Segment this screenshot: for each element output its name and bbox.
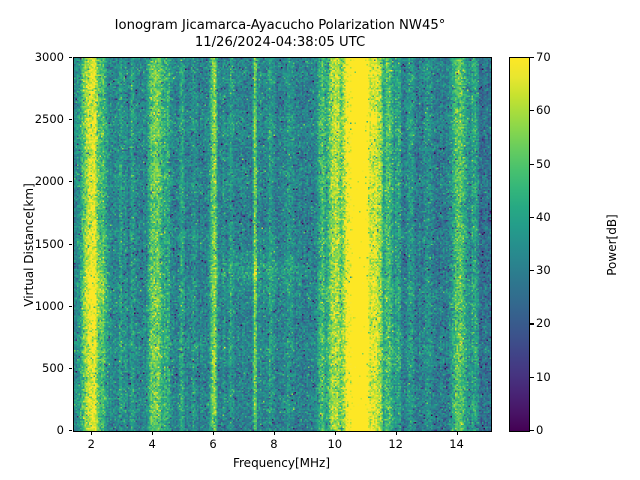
y-tick-label: 500 <box>18 361 64 375</box>
colorbar-tick-mark <box>530 110 534 111</box>
y-tick-label: 2500 <box>18 112 64 126</box>
colorbar-tick-label: 70 <box>536 50 551 64</box>
chart-title: Ionogram Jicamarca-Ayacucho Polarization… <box>0 17 560 51</box>
ionogram-figure: Ionogram Jicamarca-Ayacucho Polarization… <box>0 0 640 480</box>
y-tick-label: 1500 <box>18 237 64 251</box>
colorbar-tick-label: 30 <box>536 263 551 277</box>
colorbar-tick-mark <box>530 377 534 378</box>
x-tick-mark <box>274 431 275 435</box>
y-tick-label: 1000 <box>18 299 64 313</box>
x-tick-mark <box>396 431 397 435</box>
heatmap-plot-area <box>73 57 492 432</box>
x-tick-label: 12 <box>374 437 418 451</box>
colorbar-tick-label: 40 <box>536 210 551 224</box>
x-tick-label: 8 <box>252 437 296 451</box>
x-tick-mark <box>457 431 458 435</box>
colorbar-tick-mark <box>530 270 534 271</box>
y-tick-label: 2000 <box>18 174 64 188</box>
colorbar-tick-mark <box>530 217 534 218</box>
colorbar-gradient <box>510 58 529 431</box>
colorbar-tick-label: 50 <box>536 157 551 171</box>
y-tick-mark <box>69 368 73 369</box>
x-tick-label: 10 <box>313 437 357 451</box>
x-tick-label: 4 <box>130 437 174 451</box>
y-tick-mark <box>69 244 73 245</box>
colorbar-tick-mark <box>530 430 534 431</box>
colorbar-label: Power[dB] <box>605 145 619 345</box>
x-tick-label: 14 <box>435 437 479 451</box>
colorbar-tick-mark <box>530 164 534 165</box>
y-tick-mark <box>69 430 73 431</box>
x-tick-label: 6 <box>191 437 235 451</box>
y-tick-mark <box>69 57 73 58</box>
colorbar <box>509 57 530 432</box>
colorbar-tick-label: 10 <box>536 370 551 384</box>
ionogram-heatmap <box>74 58 491 431</box>
y-tick-mark <box>69 306 73 307</box>
colorbar-tick-mark <box>530 57 534 58</box>
colorbar-tick-label: 0 <box>536 423 543 437</box>
x-tick-mark <box>213 431 214 435</box>
x-tick-label: 2 <box>69 437 113 451</box>
y-tick-label: 3000 <box>18 50 64 64</box>
x-tick-mark <box>335 431 336 435</box>
y-tick-mark <box>69 119 73 120</box>
colorbar-tick-label: 20 <box>536 316 551 330</box>
y-tick-label: 0 <box>18 423 64 437</box>
colorbar-tick-mark <box>530 323 534 324</box>
chart-title-line-1: Ionogram Jicamarca-Ayacucho Polarization… <box>0 17 560 34</box>
x-tick-mark <box>152 431 153 435</box>
y-tick-mark <box>69 181 73 182</box>
colorbar-tick-label: 60 <box>536 103 551 117</box>
chart-title-line-2: 11/26/2024-04:38:05 UTC <box>0 34 560 51</box>
x-tick-mark <box>91 431 92 435</box>
x-axis-label: Frequency[MHz] <box>73 456 490 470</box>
